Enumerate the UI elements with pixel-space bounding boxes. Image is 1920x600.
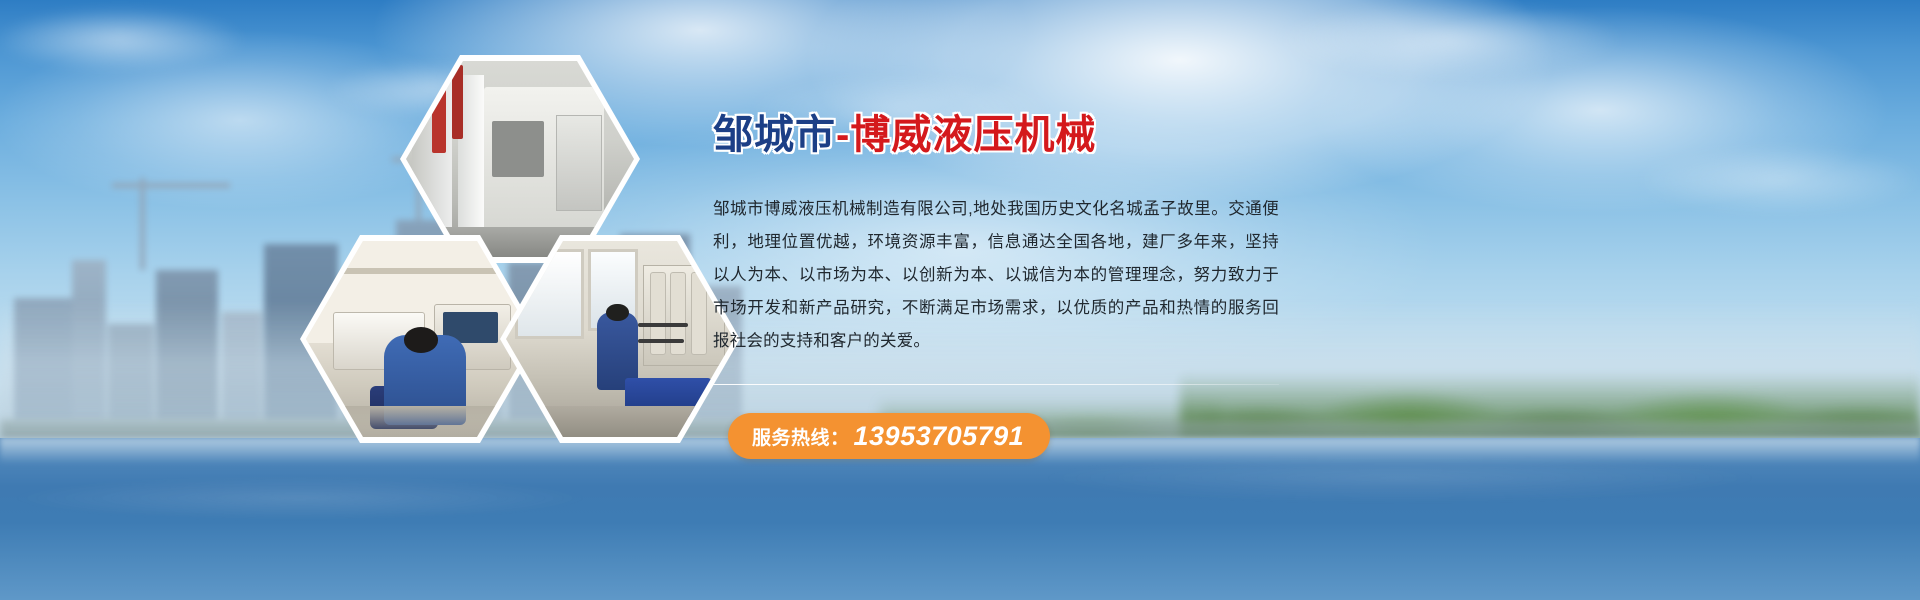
- machine-control-panel: [556, 115, 602, 211]
- hotline-label: 服务热线：: [752, 423, 850, 450]
- hexagon-photo-cluster: [300, 55, 700, 435]
- machining-center-photo: [406, 61, 634, 257]
- photo-machining-center[interactable]: [400, 55, 640, 263]
- photo-lab-technician-image: [306, 241, 534, 437]
- machine-window: [492, 121, 544, 177]
- red-machine-part: [452, 65, 463, 139]
- hydraulic-test-rig-photo: [506, 241, 734, 437]
- company-headline: 邹城市-博威液压机械: [713, 112, 1293, 159]
- headline-primary-text: 邹城市: [713, 113, 836, 157]
- crane-silhouette: [140, 178, 145, 270]
- headline-accent-text: -博威液压机械: [836, 113, 1096, 157]
- lab-shelf: [324, 268, 516, 274]
- red-machine-part: [432, 67, 446, 153]
- river-water-background: [0, 438, 1920, 600]
- photo-machining-center-image: [406, 61, 634, 257]
- crane-silhouette: [112, 183, 230, 188]
- hotline-button[interactable]: 服务热线： 13953705791: [728, 413, 1050, 459]
- machine-column: [412, 69, 452, 239]
- lab-floor: [306, 406, 534, 437]
- banner-content: 邹城市-博威液压机械 邹城市博威液压机械制造有限公司,地处我国历史文化名城孟子故…: [713, 112, 1293, 459]
- hydraulic-hose: [638, 323, 688, 327]
- company-intro-paragraph: 邹城市博威液压机械制造有限公司,地处我国历史文化名城孟子故里。交通便利，地理位置…: [713, 193, 1279, 358]
- photo-hydraulic-test-rig-image: [506, 241, 734, 437]
- test-rig-tank: [691, 272, 707, 354]
- hotline-number: 13953705791: [854, 421, 1025, 452]
- promo-banner: 邹城市-博威液压机械 邹城市博威液压机械制造有限公司,地处我国历史文化名城孟子故…: [0, 0, 1920, 600]
- hydraulic-hose: [638, 339, 684, 343]
- workshop-floor: [506, 406, 734, 437]
- section-divider: [713, 384, 1279, 385]
- lab-technician-head: [404, 327, 438, 352]
- lab-technician-photo: [306, 241, 534, 437]
